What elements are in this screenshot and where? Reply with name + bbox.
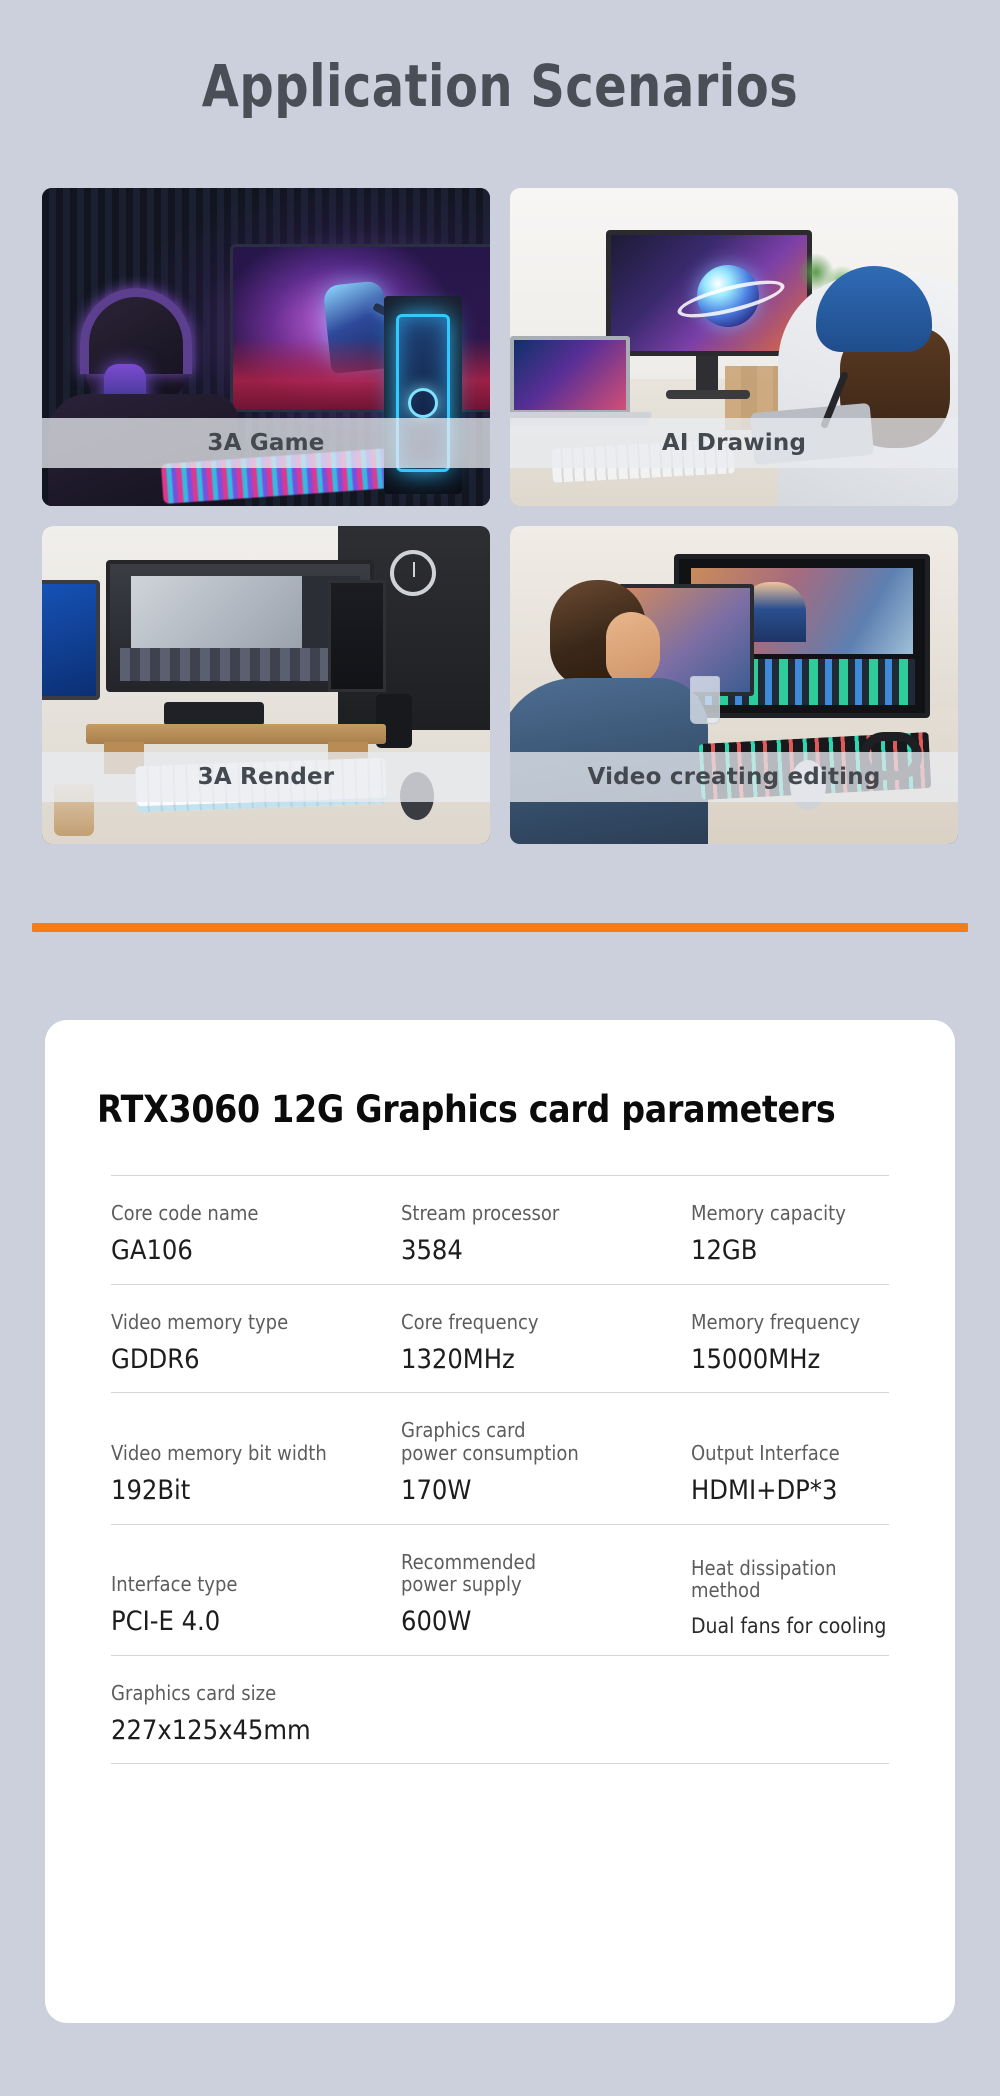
spec-value: HDMI+DP*3 xyxy=(691,1477,889,1505)
pc-fan-graphic xyxy=(408,388,438,418)
laptop-screen-graphic xyxy=(510,336,630,414)
spec-cell: Memory frequency 15000MHz xyxy=(691,1311,889,1375)
speaker-graphic xyxy=(164,702,264,726)
spec-cell: Heat dissipation method Dual fans for co… xyxy=(691,1551,889,1637)
spec-cell: Video memory bit width 192Bit xyxy=(111,1419,401,1505)
game-character-graphic xyxy=(323,280,392,374)
scenario-card-3a-game[interactable]: 3A Game xyxy=(42,188,490,506)
spec-cell: Stream processor 3584 xyxy=(401,1202,691,1266)
table-row: Video memory type GDDR6 Core frequency 1… xyxy=(111,1284,889,1393)
render-timeline-graphic xyxy=(120,648,359,680)
water-glass-graphic xyxy=(690,676,720,724)
spec-cell: Memory capacity 12GB xyxy=(691,1202,889,1266)
scenario-caption-band: 3A Game xyxy=(42,418,490,468)
spec-cell: Output Interface HDMI+DP*3 xyxy=(691,1419,889,1505)
spec-label: Graphics card size xyxy=(111,1682,401,1704)
spec-cell xyxy=(401,1682,691,1746)
spec-value: Dual fans for cooling xyxy=(691,1615,889,1637)
spec-value: 3584 xyxy=(401,1237,691,1265)
scenario-caption-label: Video creating editing xyxy=(587,764,880,790)
spec-value: GA106 xyxy=(111,1237,401,1265)
spec-value: 192Bit xyxy=(111,1477,401,1505)
monitor-base-graphic xyxy=(666,390,750,399)
headset-graphic xyxy=(80,288,192,374)
spec-value: 12GB xyxy=(691,1237,889,1265)
spec-label: Core frequency xyxy=(401,1311,691,1333)
right-panel-graphic xyxy=(328,580,386,692)
spec-cell: Recommended power supply 600W xyxy=(401,1551,691,1637)
table-row: Interface type PCI-E 4.0 Recommended pow… xyxy=(111,1524,889,1655)
editor-face-graphic xyxy=(606,612,660,684)
spec-cell xyxy=(691,1682,889,1746)
scenario-card-video-editing[interactable]: Video creating editing xyxy=(510,526,958,844)
scenario-caption-label: AI Drawing xyxy=(662,430,806,456)
monitor-stand-graphic xyxy=(696,356,718,392)
product-detail-page: Application Scenarios 3A Game xyxy=(0,0,1000,2096)
spec-label: Interface type xyxy=(111,1573,401,1595)
spec-label: Memory capacity xyxy=(691,1202,889,1224)
spec-cell: Core frequency 1320MHz xyxy=(401,1311,691,1375)
spec-label: Heat dissipation method xyxy=(691,1557,889,1602)
table-row: Core code name GA106 Stream processor 35… xyxy=(111,1175,889,1284)
scenario-grid: 3A Game xyxy=(42,188,958,844)
spec-card-title: RTX3060 12G Graphics card parameters xyxy=(97,1088,835,1131)
spec-label: Stream processor xyxy=(401,1202,691,1224)
spec-cell: Interface type PCI-E 4.0 xyxy=(111,1551,401,1637)
scenario-caption-band: Video creating editing xyxy=(510,752,958,802)
spec-cell: Video memory type GDDR6 xyxy=(111,1311,401,1375)
scenario-card-ai-drawing[interactable]: AI Drawing xyxy=(510,188,958,506)
spec-label: Graphics card power consumption xyxy=(401,1419,691,1464)
scenario-caption-label: 3A Game xyxy=(207,430,324,456)
spec-value: 170W xyxy=(401,1477,691,1505)
spec-label: Memory frequency xyxy=(691,1311,889,1333)
orange-divider xyxy=(32,923,968,932)
spec-label: Video memory bit width xyxy=(111,1442,401,1464)
spec-value: 600W xyxy=(401,1608,691,1636)
spec-label: Video memory type xyxy=(111,1311,401,1333)
spec-cell: Core code name GA106 xyxy=(111,1202,401,1266)
spec-label: Core code name xyxy=(111,1202,401,1224)
spec-label: Recommended power supply xyxy=(401,1551,691,1596)
spec-card: RTX3060 12G Graphics card parameters Cor… xyxy=(45,1020,955,2023)
page-title: Application Scenarios xyxy=(40,52,960,120)
spec-cell: Graphics card size 227x125x45mm xyxy=(111,1682,401,1746)
spec-value: 15000MHz xyxy=(691,1346,889,1374)
left-monitor-graphic xyxy=(42,580,100,700)
scenario-caption-label: 3A Render xyxy=(198,764,335,790)
spec-value: 227x125x45mm xyxy=(111,1717,401,1745)
render-viewport-graphic xyxy=(131,576,303,648)
table-row: Video memory bit width 192Bit Graphics c… xyxy=(111,1392,889,1523)
spec-value: PCI-E 4.0 xyxy=(111,1608,401,1636)
table-row: Graphics card size 227x125x45mm xyxy=(111,1655,889,1765)
spec-cell: Graphics card power consumption 170W xyxy=(401,1419,691,1505)
spec-label: Output Interface xyxy=(691,1442,889,1464)
scenario-caption-band: AI Drawing xyxy=(510,418,958,468)
spec-value: GDDR6 xyxy=(111,1346,401,1374)
scenario-card-3a-render[interactable]: 3A Render xyxy=(42,526,490,844)
spec-table: Core code name GA106 Stream processor 35… xyxy=(111,1175,889,1764)
scenario-caption-band: 3A Render xyxy=(42,752,490,802)
spec-value: 1320MHz xyxy=(401,1346,691,1374)
monitor-riser-graphic xyxy=(86,724,386,744)
wall-clock-graphic xyxy=(390,550,436,596)
